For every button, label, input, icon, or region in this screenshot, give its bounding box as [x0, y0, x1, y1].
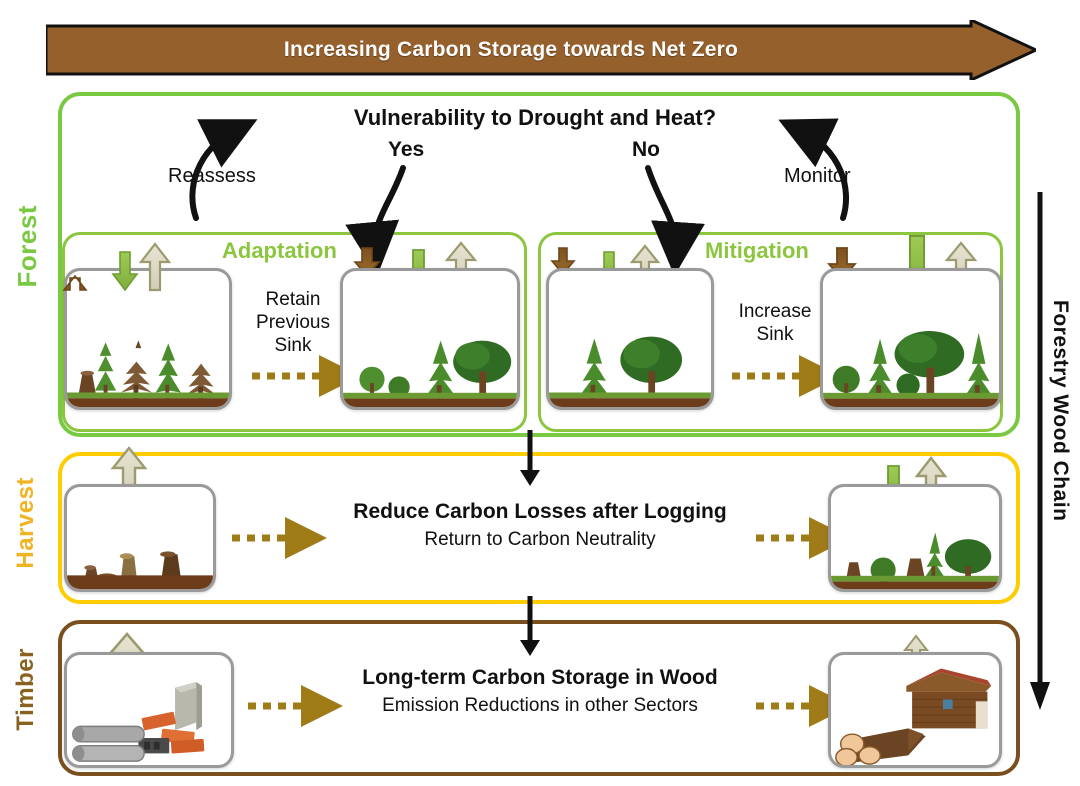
panel-timber-alternatives	[64, 652, 234, 768]
scene-damaged-forest	[67, 271, 229, 408]
harvest-title: Reduce Carbon Losses after Logging	[270, 498, 810, 525]
flow-line-1: Increase	[722, 300, 828, 323]
scene-dense-forest	[823, 271, 999, 408]
panel-forest-resilient	[546, 268, 714, 410]
panel-forest-vulnerable	[64, 268, 232, 410]
forestry-wood-chain-label: Forestry Wood Chain	[1048, 300, 1072, 521]
panel-timber-wood-products	[828, 652, 1002, 768]
panel-forest-adapted	[340, 268, 520, 410]
flow-text-increase-sink: Increase Sink	[722, 300, 828, 346]
scene-construction-materials	[67, 655, 231, 767]
row-label-forest: Forest	[12, 205, 43, 287]
decision-answer-yes: Yes	[388, 138, 424, 162]
scene-stumps	[67, 487, 213, 591]
flow-line-2: Previous	[238, 311, 348, 334]
banner-arrow: Increasing Carbon Storage towards Net Ze…	[46, 20, 1036, 80]
panel-harvest-regrowth	[828, 484, 1002, 592]
flow-text-retain-previous-sink: Retain Previous Sink	[238, 288, 348, 358]
decision-answer-no: No	[632, 138, 660, 162]
panel-forest-enhanced	[820, 268, 1002, 410]
harvest-message: Reduce Carbon Losses after Logging Retur…	[270, 498, 810, 553]
diagram-canvas: Increasing Carbon Storage towards Net Ze…	[0, 0, 1080, 786]
flow-line-1: Retain	[238, 288, 348, 311]
scene-regrowth	[831, 487, 999, 591]
scene-wooden-house-and-logs	[831, 655, 999, 767]
flow-line-2: Sink	[722, 323, 828, 346]
scene-adapted-forest	[343, 271, 517, 408]
subsection-title-adaptation: Adaptation	[222, 238, 337, 264]
subsection-title-mitigation: Mitigation	[705, 238, 809, 264]
harvest-subtitle: Return to Carbon Neutrality	[270, 528, 810, 553]
panel-harvest-clearcut	[64, 484, 216, 592]
row-label-harvest: Harvest	[12, 477, 40, 569]
row-label-timber: Timber	[12, 648, 40, 731]
timber-subtitle: Emission Reductions in other Sectors	[270, 694, 810, 719]
label-reassess: Reassess	[168, 165, 256, 188]
label-monitor: Monitor	[784, 165, 851, 188]
decision-question: Vulnerability to Drought and Heat?	[295, 105, 775, 131]
banner-label: Increasing Carbon Storage towards Net Ze…	[46, 20, 976, 80]
scene-sparse-forest	[549, 271, 711, 408]
timber-message: Long-term Carbon Storage in Wood Emissio…	[270, 664, 810, 719]
timber-title: Long-term Carbon Storage in Wood	[270, 664, 810, 691]
flow-line-3: Sink	[238, 334, 348, 357]
